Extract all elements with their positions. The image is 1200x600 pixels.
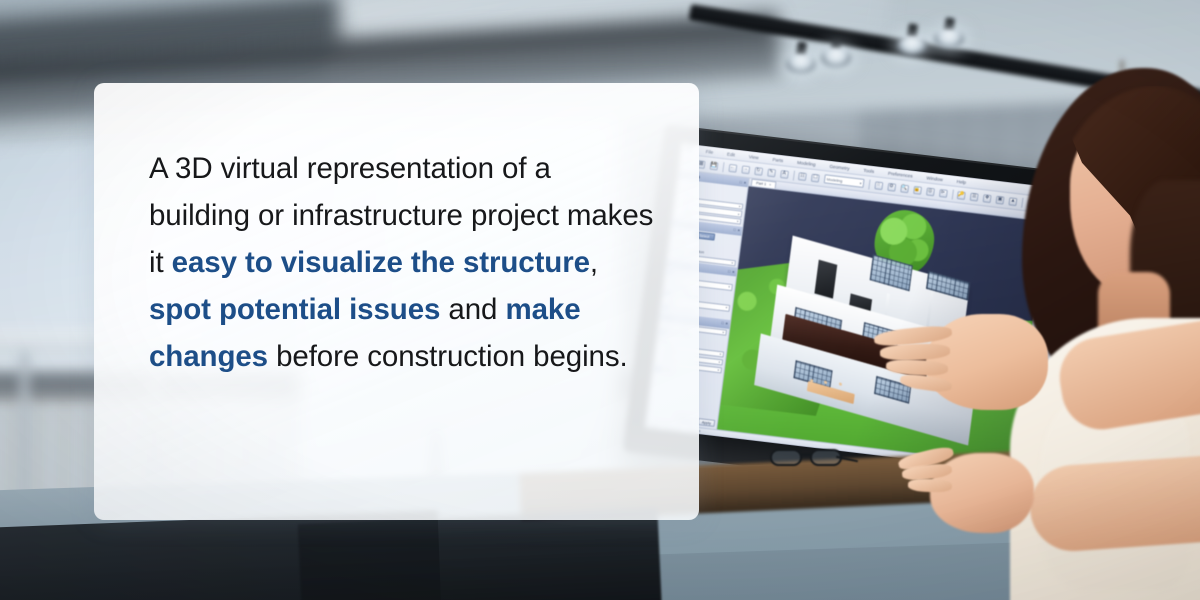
tab-label: Part 1	[756, 181, 767, 186]
panel-float-icon[interactable]: □	[733, 228, 736, 232]
text-icon[interactable]: A	[780, 170, 789, 179]
panel-float-icon[interactable]: □	[721, 321, 724, 325]
gear-icon[interactable]: ⚙	[887, 182, 896, 191]
lock-icon[interactable]: 🔒	[913, 185, 922, 194]
arrow-left-icon[interactable]: ←	[728, 163, 737, 172]
model-dining-chair-3	[839, 382, 842, 385]
side-table-leg-left	[20, 352, 29, 502]
toolbar-separator-1	[722, 162, 724, 172]
menu-item-geometry[interactable]: Geometry	[829, 163, 850, 170]
pointing-hand	[878, 288, 1068, 428]
desk-shadow-left-2	[298, 508, 663, 600]
chevron-down-icon: ▾	[739, 204, 741, 208]
card-highlight: spot potential issues	[149, 293, 440, 326]
chevron-down-icon: ▾	[738, 212, 740, 216]
fill-corners-panel-buttons: □ ×	[728, 269, 735, 274]
menu-item-edit[interactable]: Edit	[727, 151, 736, 157]
apply-button[interactable]: Apply	[698, 418, 716, 427]
chevron-down-icon: ▾	[719, 352, 721, 356]
text-card: A 3D virtual representation of a buildin…	[94, 83, 699, 520]
chevron-down-icon: ▾	[718, 360, 720, 364]
chevron-down-icon: ▾	[728, 285, 730, 289]
menu-item-parts[interactable]: Parts	[772, 157, 783, 163]
mode-select-value: Modeling	[826, 177, 842, 184]
close-icon[interactable]: ×	[769, 183, 771, 187]
spotlight-4	[934, 29, 964, 48]
eyeglasses	[770, 447, 848, 469]
frame-icon[interactable]: ☐	[811, 173, 820, 182]
toolbar-separator-2	[792, 170, 794, 180]
menu-item-tools[interactable]: Tools	[863, 167, 874, 173]
mode-select[interactable]: Modeling ▾	[824, 175, 865, 188]
spotlight-1	[786, 54, 816, 73]
star-icon[interactable]: ☆	[874, 181, 883, 190]
menu-item-view[interactable]: View	[749, 154, 759, 160]
chevron-down-icon: ▾	[722, 331, 724, 335]
menu-item-file[interactable]: File	[706, 149, 714, 155]
pencil-icon[interactable]: ✎	[767, 168, 776, 177]
align-icon[interactable]: ☷	[798, 172, 807, 181]
properties-panel-buttons: □ ×	[739, 180, 746, 185]
sink-sheet-panel-buttons: □ ×	[733, 228, 740, 233]
menu-item-modeling[interactable]: Modeling	[797, 159, 816, 166]
arrow-right-icon[interactable]: →	[741, 165, 750, 174]
chevron-down-icon: ▾	[860, 181, 862, 185]
card-highlight: easy to visualize the structure	[172, 246, 590, 279]
lower-hand	[900, 435, 1060, 555]
panel-float-icon[interactable]: □	[739, 180, 742, 184]
banner-scene: File Edit View Parts Modeling Geometry T…	[0, 0, 1200, 600]
panel-float-icon[interactable]: □	[728, 269, 731, 273]
lower-finger-3	[908, 478, 952, 493]
array-panel-buttons: □ ×	[721, 321, 728, 326]
close-icon[interactable]: ×	[725, 322, 728, 326]
close-icon[interactable]: ×	[737, 229, 740, 233]
chevron-down-icon: ▾	[725, 306, 727, 310]
eyeglass-lens-left	[770, 449, 802, 466]
person	[930, 60, 1200, 600]
close-icon[interactable]: ×	[732, 270, 735, 274]
chevron-down-icon: ▾	[731, 261, 733, 265]
menu-item-preferences[interactable]: Preferences	[888, 170, 913, 178]
close-icon[interactable]: ×	[744, 180, 747, 184]
chevron-down-icon: ▾	[717, 368, 719, 372]
card-paragraph: A 3D virtual representation of a buildin…	[149, 145, 659, 380]
spotlight-2	[821, 48, 851, 67]
toolbar-separator-3	[868, 179, 870, 189]
chevron-down-icon: ▾	[737, 220, 739, 224]
model-dining-chair-1	[810, 379, 813, 382]
save-icon[interactable]: 💾	[710, 161, 719, 170]
spotlight-3	[897, 36, 927, 55]
search-icon[interactable]: 🔍	[900, 184, 909, 193]
eyeglass-bridge	[801, 453, 812, 456]
rotate-icon[interactable]: ↻	[754, 166, 763, 175]
